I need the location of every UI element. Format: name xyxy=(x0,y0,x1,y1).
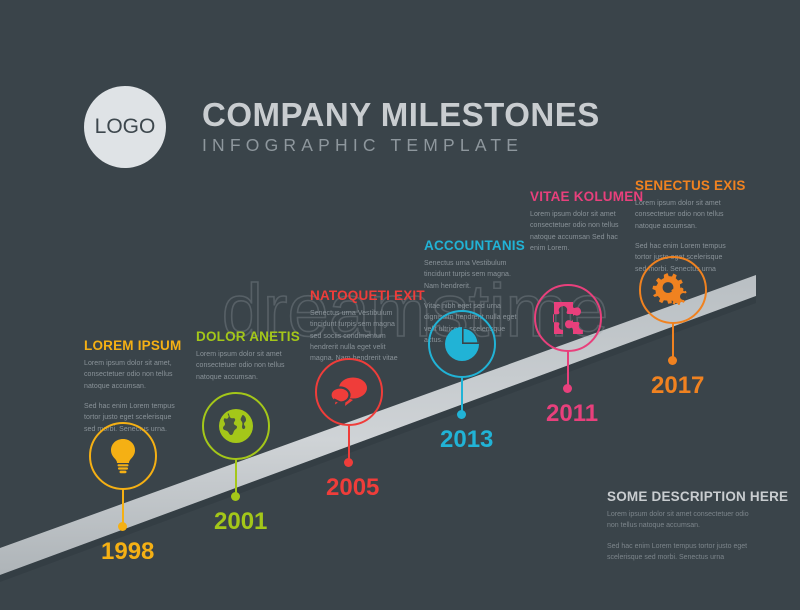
milestone-year: 1998 xyxy=(101,538,154,566)
marker-dot xyxy=(344,458,353,467)
marker-dot xyxy=(563,384,572,393)
milestone-heading: VITAE KOLUMEN xyxy=(530,189,643,204)
milestone-heading: SENECTUS EXIS xyxy=(635,178,746,193)
milestone-heading: ACCOUNTANIS xyxy=(424,238,525,253)
marker-dot xyxy=(231,492,240,501)
marker-dot xyxy=(118,522,127,531)
milestone-text-2011: VITAE KOLUMEN Lorem ipsum dolor sit amet… xyxy=(530,189,643,254)
milestone-text-2005: NATOQUETI EXIT Senectus urna Vestibulum … xyxy=(310,288,425,365)
marker-dot xyxy=(668,356,677,365)
infographic-canvas: dreamstime LOGO COMPANY MILESTONES INFOG… xyxy=(0,0,800,610)
milestone-year: 2013 xyxy=(440,426,493,454)
gears-icon xyxy=(652,270,694,310)
milestone-heading: DOLOR ANETIS xyxy=(196,329,300,344)
speech-bubbles-icon xyxy=(329,375,369,409)
milestone-paragraph: Senectus urna Vestibulum tincidunt turpi… xyxy=(424,258,520,292)
milestone-paragraph: Lorem ipsum dolor sit amet consectetuer … xyxy=(196,349,292,383)
milestone-heading: NATOQUETI EXIT xyxy=(310,288,425,303)
milestone-year: 2017 xyxy=(651,372,704,400)
footer-description: SOME DESCRIPTION HERE Lorem ipsum dolor … xyxy=(607,489,757,563)
header: LOGO COMPANY MILESTONES INFOGRAPHIC TEMP… xyxy=(84,86,600,168)
milestone-year: 2001 xyxy=(214,508,267,536)
milestone-year: 2011 xyxy=(546,400,598,428)
pie-chart-icon xyxy=(442,324,482,364)
marker-dot xyxy=(457,410,466,419)
globe-icon xyxy=(216,406,256,446)
footer-paragraph: Sed hac enim Lorem tempus tortor justo e… xyxy=(607,541,755,564)
milestone-paragraph: Lorem ipsum dolor sit amet consectetuer … xyxy=(635,198,731,232)
logo-badge: LOGO xyxy=(84,86,166,168)
milestone-text-1998: LOREM IPSUM Lorem ipsum dolor sit amet, … xyxy=(84,338,181,435)
page-title: COMPANY MILESTONES xyxy=(202,98,600,132)
footer-heading: SOME DESCRIPTION HERE xyxy=(607,489,757,504)
milestone-year: 2005 xyxy=(326,474,379,502)
logo-label: LOGO xyxy=(95,115,156,139)
page-subtitle: INFOGRAPHIC TEMPLATE xyxy=(202,135,600,156)
puzzle-piece-icon xyxy=(549,298,587,338)
lightbulb-icon xyxy=(104,436,142,476)
footer-paragraph: Lorem ipsum dolor sit amet consectetuer … xyxy=(607,509,755,532)
milestone-heading: LOREM IPSUM xyxy=(84,338,181,353)
milestone-text-2001: DOLOR ANETIS Lorem ipsum dolor sit amet … xyxy=(196,329,300,383)
header-titles: COMPANY MILESTONES INFOGRAPHIC TEMPLATE xyxy=(202,98,600,157)
milestone-paragraph: Senectus urna Vestibulum tincidunt turpi… xyxy=(310,308,406,365)
milestone-paragraph: Lorem ipsum dolor sit amet, consectetuer… xyxy=(84,358,180,392)
milestone-paragraph: Lorem ipsum dolor sit amet consectetuer … xyxy=(530,209,626,254)
